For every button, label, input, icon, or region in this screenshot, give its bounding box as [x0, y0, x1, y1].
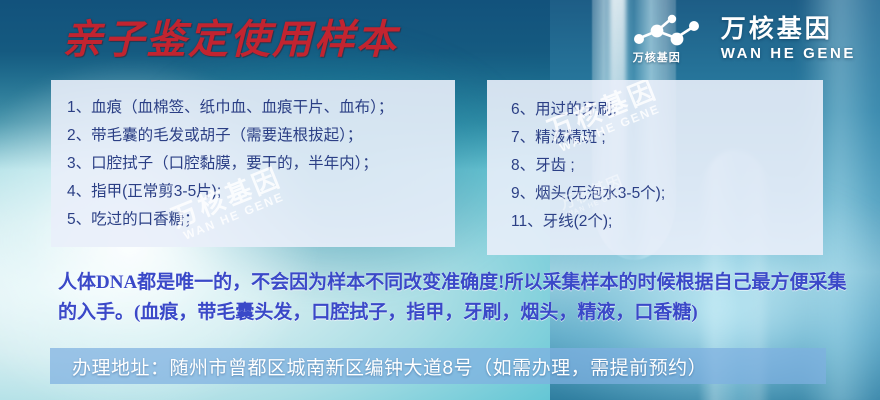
description-line-1: 人体DNA都是唯一的，不会因为样本不同改变准确度!所以采集样本的时候根据自己最方…: [58, 268, 848, 298]
sample-list-right: 6、用过的牙刷; 7、精液精斑 ; 8、牙齿 ; 9、烟头(无泡水3-5个); …: [511, 96, 823, 236]
list-item: 11、牙线(2个);: [511, 208, 823, 236]
address-bar: 办理地址：随州市曾都区城南新区编钟大道8号（如需办理，需提前预约）: [50, 348, 826, 384]
logo-mini-label: 万核基因: [633, 49, 681, 65]
sample-list-panel-left: 万核基因 WAN HE GENE 万核基因 WAN HE GENE 1、血痕（血…: [51, 80, 455, 247]
description-text: 人体DNA都是唯一的，不会因为样本不同改变准确度!所以采集样本的时候根据自己最方…: [58, 268, 848, 328]
list-item: 8、牙齿 ;: [511, 152, 823, 180]
description-line-2: 的入手。(血痕，带毛囊头发，口腔拭子，指甲，牙刷，烟头，精液，口香糖): [58, 298, 848, 328]
list-item: 9、烟头(无泡水3-5个);: [511, 180, 823, 208]
list-item: 3、口腔拭子（口腔黏膜，要干的，半年内）；: [67, 150, 455, 178]
brand-name-en: WAN HE GENE: [721, 44, 856, 63]
list-item: 1、血痕（血棉签、纸巾血、血痕干片、血布）；: [67, 94, 455, 122]
list-item: 4、指甲(正常剪3-5片);: [67, 178, 455, 206]
list-item: 7、精液精斑 ;: [511, 124, 823, 152]
brand-logo: 万核基因 万核基因 WAN HE GENE: [631, 12, 856, 64]
address-text: 办理地址：随州市曾都区城南新区编钟大道8号（如需办理，需提前预约）: [72, 353, 707, 380]
sample-list-panel-right: 万核基因 WAN HE GENE 万核基因 WAN HE GENE 6、用过的牙…: [487, 80, 823, 255]
list-item: 6、用过的牙刷;: [511, 96, 823, 124]
sample-list-left: 1、血痕（血棉签、纸巾血、血痕干片、血布）； 2、带毛囊的毛发或胡子（需要连根拔…: [67, 94, 455, 234]
page-title: 亲子鉴定使用样本: [62, 16, 398, 64]
molecule-dna-icon: 万核基因: [631, 12, 707, 64]
list-item: 5、吃过的口香糖；: [67, 206, 455, 234]
brand-name-block: 万核基因 WAN HE GENE: [721, 14, 856, 63]
brand-name-cn: 万核基因: [721, 14, 833, 44]
list-item: 2、带毛囊的毛发或胡子（需要连根拔起）；: [67, 122, 455, 150]
poster-root: 亲子鉴定使用样本 万核基因 万核基: [0, 0, 880, 400]
